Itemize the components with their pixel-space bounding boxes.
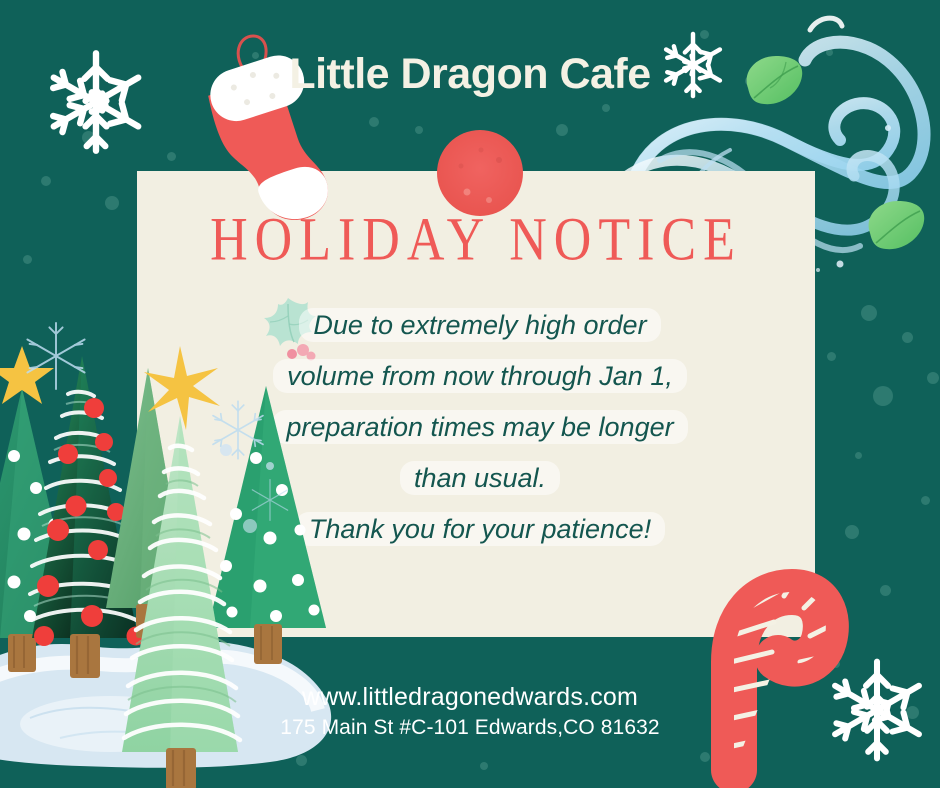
website-url[interactable]: www.littledragonedwards.com xyxy=(0,681,940,713)
christmas-tree-ornaments xyxy=(30,356,146,678)
holiday-notice-poster: Little Dragon Cafe HOLIDAY NOTICE Due to… xyxy=(0,0,940,788)
notice-headline: HOLIDAY NOTICE xyxy=(137,205,815,275)
street-address: 175 Main St #C-101 Edwards,CO 81632 xyxy=(0,713,940,743)
christmas-tree-dotted-left xyxy=(0,346,80,672)
page-title: Little Dragon Cafe xyxy=(0,50,940,99)
notice-body-line: preparation times may be longer xyxy=(180,402,780,453)
footer-contact: www.littledragonedwards.com 175 Main St … xyxy=(0,681,940,743)
notice-body: Due to extremely high order volume from … xyxy=(180,300,780,555)
notice-body-line: Due to extremely high order xyxy=(180,300,780,351)
notice-body-line: than usual. xyxy=(180,453,780,504)
leaf-right-icon xyxy=(862,193,932,255)
notice-body-line: Thank you for your patience! xyxy=(180,504,780,555)
notice-body-line: volume from now through Jan 1, xyxy=(180,351,780,402)
